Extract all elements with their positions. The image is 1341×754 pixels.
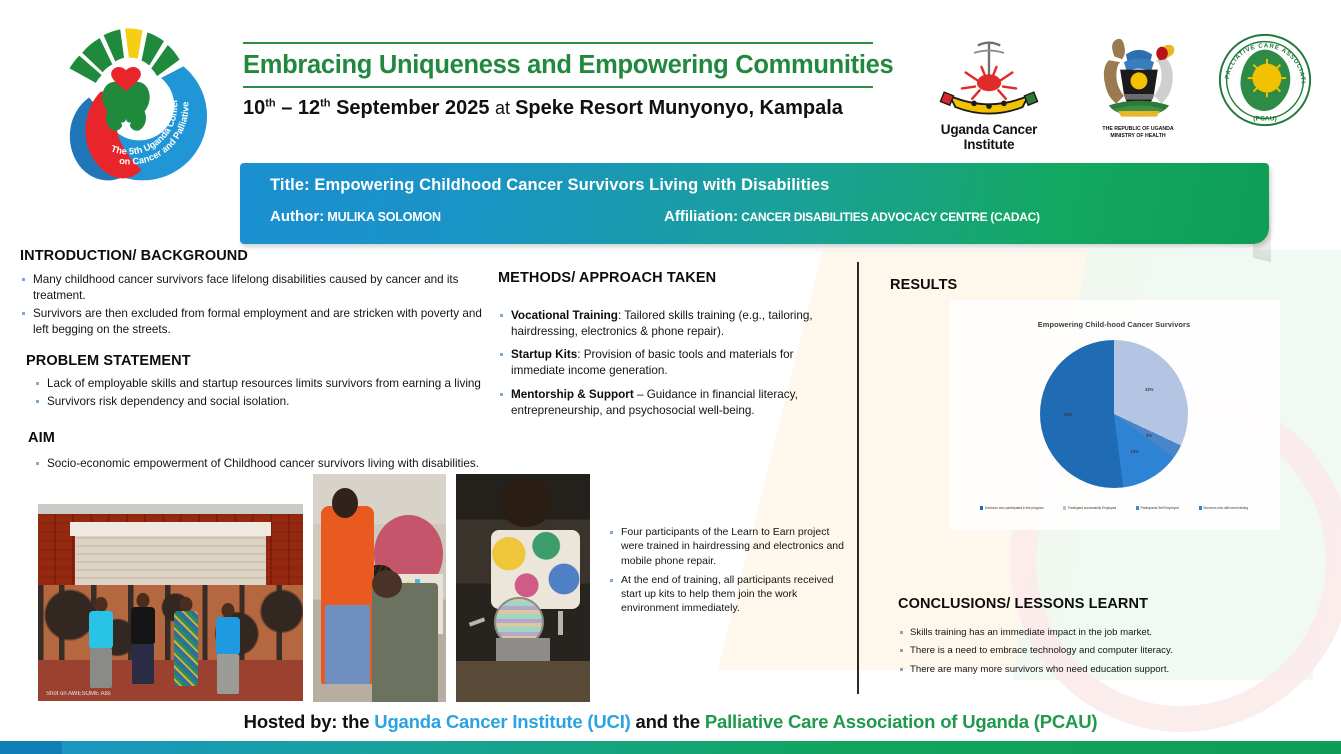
photo3-workbench (456, 661, 590, 702)
photo2-stylist (321, 506, 374, 684)
results-heading: RESULTS (890, 277, 957, 293)
title-rule-top (243, 42, 873, 44)
photo1-person (213, 603, 243, 697)
conclusions-section: CONCLUSIONS/ LESSONS LEARNT Skills train… (898, 596, 1298, 681)
legend-label: Survivors who still need training (1203, 506, 1248, 510)
conclusions-heading: CONCLUSIONS/ LESSONS LEARNT (898, 596, 1298, 612)
legend-item: Survivors who participated in the progra… (980, 506, 1043, 510)
legend-swatch-icon (1063, 506, 1066, 509)
aim-bullets: Socio-economic empowerment of Childhood … (34, 456, 490, 472)
list-item: Skills training has an immediate impact … (898, 626, 1298, 639)
conference-title-block: Embracing Uniqueness and Empowering Comm… (243, 42, 873, 120)
legend-item: Participants Self Employed (1136, 506, 1179, 510)
methods-bullets: Vocational Training: Tailored skills tra… (498, 308, 848, 419)
photo-hairdressing (313, 474, 446, 702)
conference-title: Embracing Uniqueness and Empowering Comm… (243, 51, 873, 80)
methods-heading: METHODS/ APPROACH TAKEN (498, 270, 848, 286)
legend-swatch-icon (1199, 506, 1202, 509)
aim-heading: AIM (28, 430, 490, 446)
date-month-year: September 2025 (331, 97, 496, 119)
poster-canvas: The 5th Uganda Conference on Cancer and … (0, 0, 1341, 754)
poster-header: The 5th Uganda Conference on Cancer and … (0, 0, 1341, 150)
date-at-word: at (495, 98, 515, 118)
method-lead: Mentorship & Support (511, 388, 634, 401)
list-item: There are many more survivors who need e… (898, 663, 1298, 676)
photo2-scene (313, 474, 446, 702)
photo3-scene (456, 474, 590, 702)
moh-logo: THE REPUBLIC OF UGANDA MINISTRY OF HEALT… (1083, 32, 1193, 139)
pie-slice-label: 53% (1064, 412, 1072, 417)
poster-title-value: Empowering Childhood Cancer Survivors Li… (310, 176, 830, 194)
list-item: Four participants of the Learn to Earn p… (608, 525, 853, 568)
pie-slice-label: 3% (1146, 433, 1152, 438)
footer-hosted-by: Hosted by: the Uganda Cancer Institute (… (0, 711, 1341, 733)
uci-logo-caption: Uganda Cancer Institute (915, 122, 1063, 152)
author-value: MULIKA SOLOMON (324, 210, 441, 224)
partner-logos: Uganda Cancer Institute (915, 26, 1315, 146)
footer-color-bar-left (0, 741, 62, 754)
legend-label: Participants Self Employed (1141, 506, 1179, 510)
date-sup-2: th (320, 97, 330, 109)
photo1-people (38, 504, 303, 701)
moh-logo-caption-line2: MINISTRY OF HEALTH (1083, 133, 1193, 140)
list-item: Mentorship & Support – Guidance in finan… (498, 387, 848, 419)
legend-swatch-icon (1136, 506, 1139, 509)
results-photo-bullets: Four participants of the Learn to Earn p… (608, 525, 853, 621)
photo2-stylist-head (332, 488, 358, 518)
uci-logo: Uganda Cancer Institute (915, 38, 1063, 152)
legend-label: Survivors who participated in the progra… (985, 506, 1044, 510)
list-item: Startup Kits: Provision of basic tools a… (498, 347, 848, 379)
chart-legend: Survivors who participated in the progra… (978, 506, 1250, 510)
list-item: Lack of employable skills and startup re… (34, 376, 490, 392)
list-item: At the end of training, all participants… (608, 573, 853, 616)
photo-watermark-caption: Shot on AWESOME A8s (46, 691, 111, 697)
date-sup-1: th (265, 97, 275, 109)
poster-title: Title: Empowering Childhood Cancer Survi… (270, 176, 829, 195)
photo1-person (171, 597, 201, 697)
photo2-client (372, 583, 439, 702)
list-item: Vocational Training: Tailored skills tra… (498, 308, 848, 340)
footer-color-bar (0, 741, 1341, 754)
footer-prefix: Hosted by: the (244, 711, 375, 732)
footer-middle: and the (631, 711, 705, 732)
legend-swatch-icon (980, 506, 983, 509)
pie-chart-graphic (1040, 340, 1188, 488)
legend-item: Survivors who still need training (1199, 506, 1248, 510)
method-lead: Vocational Training (511, 309, 618, 322)
date-dash: – 12 (276, 97, 320, 119)
pie-slice-label: 13% (1130, 449, 1138, 454)
method-lead: Startup Kits (511, 348, 577, 361)
introduction-heading: INTRODUCTION/ BACKGROUND (20, 248, 490, 264)
affiliation-value: CANCER DISABILITIES ADVOCACY CENTRE (CAD… (738, 210, 1039, 224)
footer-pcau-link: Palliative Care Association of Uganda (P… (705, 711, 1097, 732)
author-label: Author: (270, 208, 324, 225)
chart-title: Empowering Child-hood Cancer Survivors (978, 320, 1250, 329)
conference-date: 10th – 12th September 2025 at Speke Reso… (243, 97, 873, 120)
list-item: Survivors risk dependency and social iso… (34, 394, 490, 410)
introduction-bullets: Many childhood cancer survivors face lif… (20, 272, 490, 339)
list-item: Socio-economic empowerment of Childhood … (34, 456, 490, 472)
legend-label: Participant successfully Employed (1068, 506, 1116, 510)
photo-electronics-repair (456, 474, 590, 702)
conclusions-bullets: Skills training has an immediate impact … (898, 626, 1298, 676)
conference-logo-icon: The 5th Uganda Conference on Cancer and … (28, 8, 224, 188)
list-item: There is a need to embrace technology an… (898, 644, 1298, 657)
list-item: Survivors are then excluded from formal … (20, 306, 490, 338)
photo1-person (128, 593, 158, 697)
legend-item: Participant successfully Employed (1063, 506, 1116, 510)
title-rule-bottom (243, 86, 873, 88)
results-pie-chart: Empowering Child-hood Cancer Survivors 5… (978, 320, 1250, 510)
left-column: INTRODUCTION/ BACKGROUND Many childhood … (20, 248, 490, 474)
svg-text:(PCAU): (PCAU) (1253, 115, 1277, 122)
middle-column: METHODS/ APPROACH TAKEN Vocational Train… (498, 270, 848, 426)
photo1-person (86, 597, 116, 697)
column-divider (857, 262, 859, 694)
list-item: Many childhood cancer survivors face lif… (20, 272, 490, 304)
problem-statement-bullets: Lack of employable skills and startup re… (34, 376, 490, 410)
pie-slice-label: 32% (1145, 387, 1153, 392)
date-venue: Speke Resort Munyonyo, Kampala (515, 97, 843, 119)
photo3-technician-head (499, 479, 553, 527)
poster-author: Author: MULIKA SOLOMON (270, 208, 441, 225)
photo-group-survivors: Shot on AWESOME A8s (38, 504, 303, 701)
photo3-technician (485, 479, 581, 607)
date-day-start: 10 (243, 97, 265, 119)
footer-uci-link: Uganda Cancer Institute (UCI) (374, 711, 630, 732)
problem-statement-heading: PROBLEM STATEMENT (26, 353, 490, 369)
affiliation-label: Affiliation: (664, 208, 738, 225)
photo3-technician-shirt (491, 530, 580, 609)
photo2-client-head (372, 570, 402, 598)
poster-affiliation: Affiliation: CANCER DISABILITIES ADVOCAC… (664, 208, 1040, 225)
poster-title-banner: Title: Empowering Childhood Cancer Survi… (240, 163, 1269, 244)
pcau-logo: PALLIATIVE CARE ASSOCIATION OF UGANDA (P… (1215, 32, 1315, 128)
poster-title-label: Title: (270, 176, 310, 194)
